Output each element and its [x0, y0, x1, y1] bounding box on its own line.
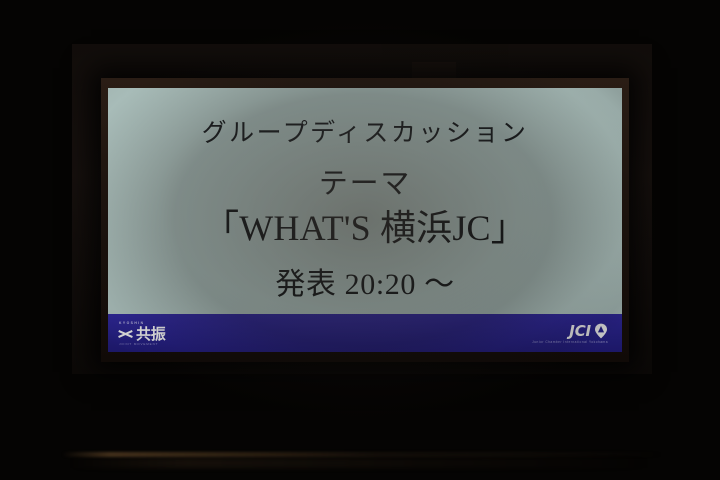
- slide-theme-title: 「WHAT'S 横浜JC」: [108, 210, 622, 246]
- jci-logo-subtitle: Junior Chamber International Yokohama: [532, 341, 608, 344]
- slide-theme-label: テーマ: [108, 170, 622, 199]
- foreground-furniture-edge: [62, 452, 662, 457]
- x-mark-icon: [117, 327, 134, 341]
- jci-wordmark: JCI: [569, 324, 591, 339]
- slide-footer-band: KYOSHIN 共振 JOINT MOVEMENT JCI: [108, 314, 622, 352]
- slide-heading-group-discussion: グループディスカッション: [108, 121, 622, 146]
- kyoshin-logo: KYOSHIN 共振 JOINT MOVEMENT: [117, 322, 165, 346]
- presentation-slide: グループディスカッション テーマ 「WHAT'S 横浜JC」 発表 20:20 …: [108, 88, 622, 352]
- kyoshin-logo-kanji: 共振: [136, 327, 165, 342]
- jci-logo: JCI Junior Chamber International Yokoham…: [532, 323, 608, 344]
- photograph-of-projected-slide: グループディスカッション テーマ 「WHAT'S 横浜JC」 発表 20:20 …: [0, 0, 720, 480]
- jci-logo-row: JCI: [569, 323, 608, 339]
- foreground-furniture-edge-glow: [70, 458, 650, 468]
- kyoshin-logo-romaji-bottom: JOINT MOVEMENT: [119, 343, 158, 346]
- slide-presentation-time: 発表 20:20 ～: [108, 270, 622, 300]
- location-pin-icon: [594, 323, 608, 339]
- wall-notch: [412, 62, 456, 78]
- kyoshin-logo-kanji-row: 共振: [117, 327, 165, 342]
- slide-content-area: グループディスカッション テーマ 「WHAT'S 横浜JC」 発表 20:20 …: [108, 88, 622, 314]
